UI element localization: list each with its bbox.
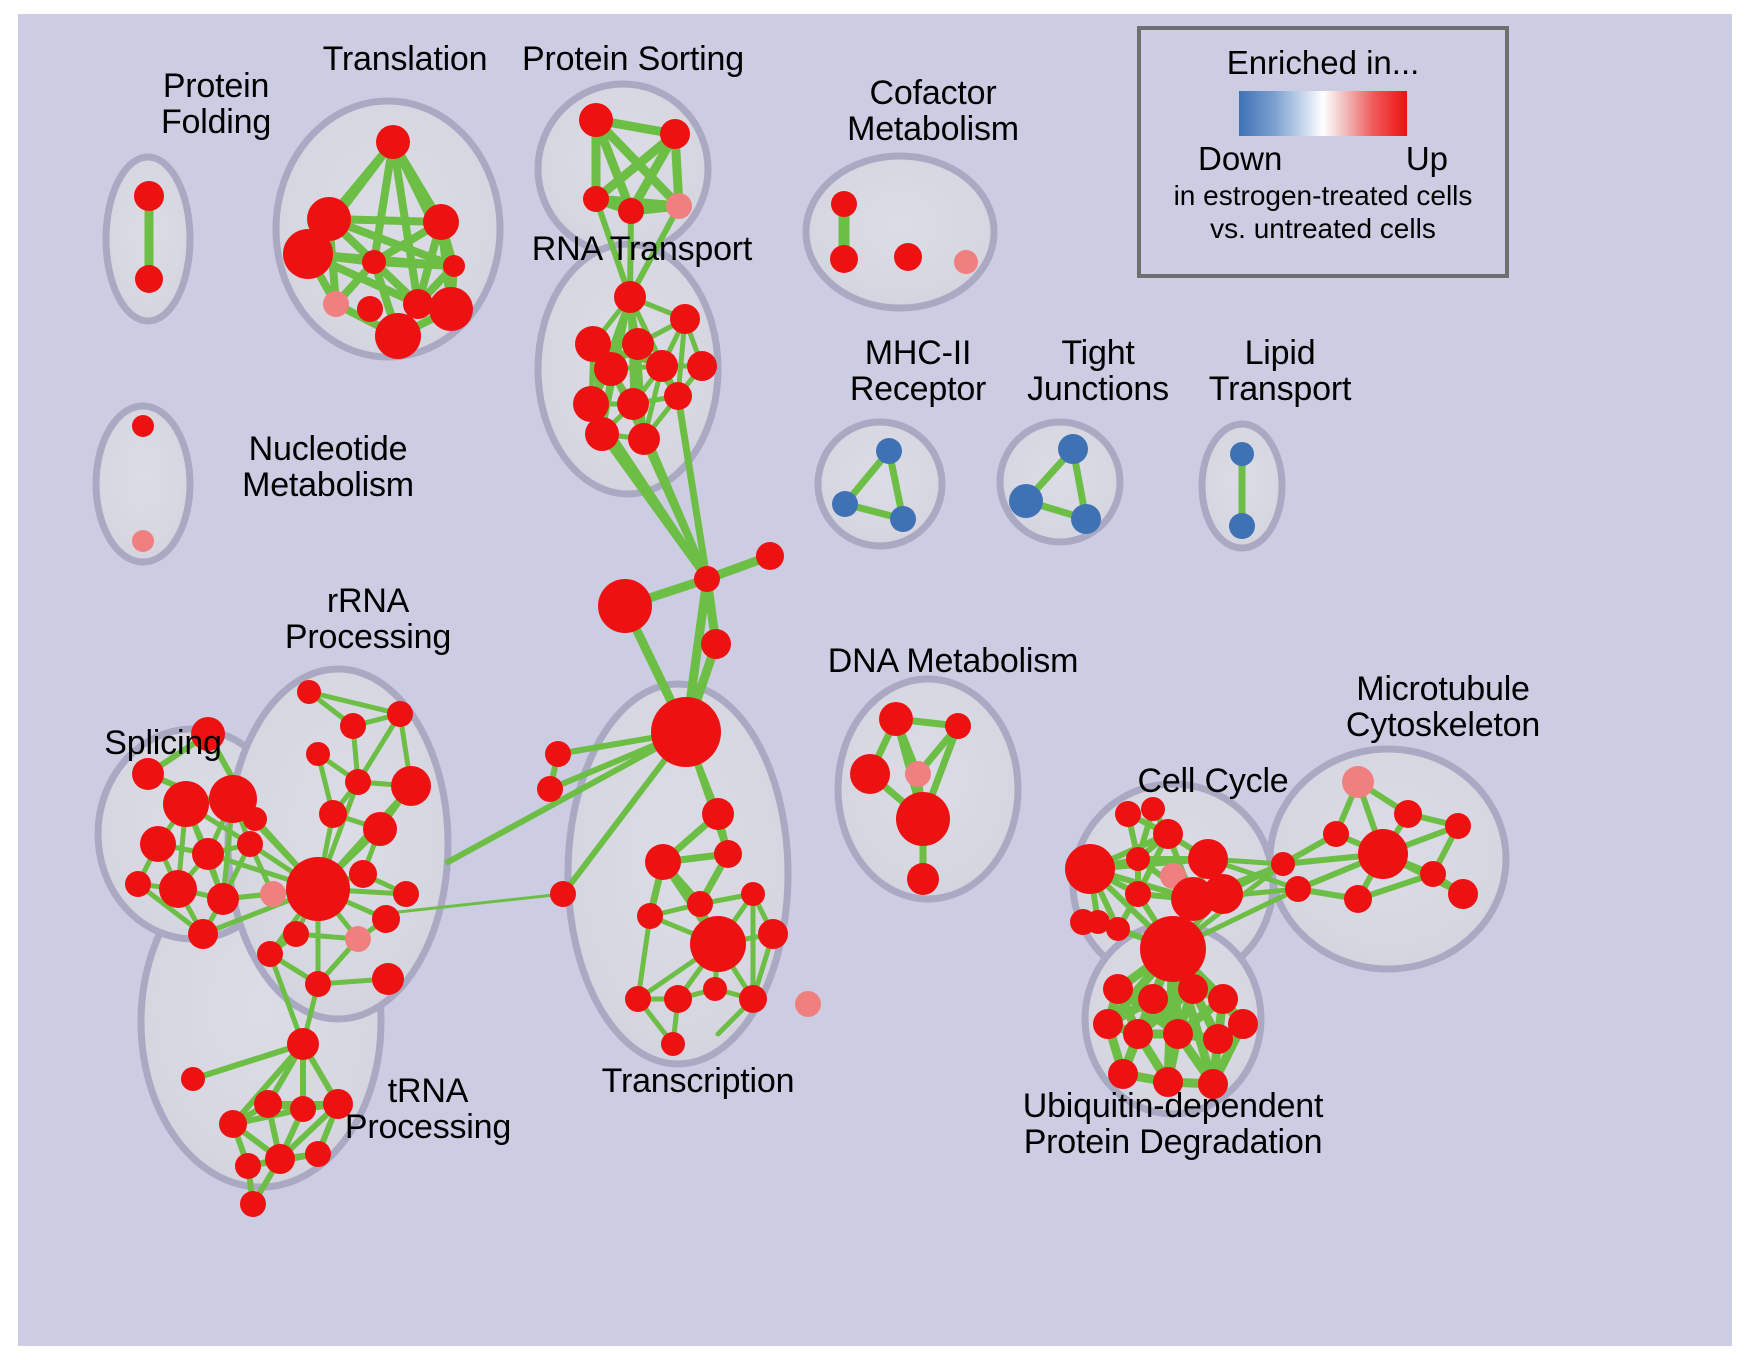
node <box>443 255 465 277</box>
node <box>651 697 721 767</box>
node <box>235 1153 261 1179</box>
cluster-label-microtubule-cytoskeleton: Microtubule Cytoskeleton <box>1298 672 1588 743</box>
hull-mhc-ii-receptor <box>818 422 942 546</box>
figure-root: Protein FoldingTranslationProtein Sortin… <box>0 0 1750 1360</box>
node <box>319 800 347 828</box>
node <box>1271 852 1295 876</box>
node <box>896 792 950 846</box>
node <box>703 977 727 1001</box>
node <box>618 198 644 224</box>
node <box>240 1191 266 1217</box>
node <box>1058 434 1088 464</box>
legend-caption-line2: vs. untreated cells <box>1210 213 1436 244</box>
node <box>594 352 628 386</box>
node <box>625 986 651 1012</box>
node <box>1140 916 1206 982</box>
hull-protein-sorting <box>538 84 708 254</box>
node <box>283 229 333 279</box>
node <box>132 530 154 552</box>
cluster-label-protein-folding: Protein Folding <box>106 69 326 140</box>
node <box>614 281 646 313</box>
node <box>1208 984 1238 1014</box>
node <box>687 891 713 917</box>
node <box>830 245 858 273</box>
node <box>323 291 349 317</box>
node <box>622 328 654 360</box>
node <box>694 566 720 592</box>
node <box>850 754 890 794</box>
node <box>132 415 154 437</box>
legend-up-label: Up <box>1406 140 1448 178</box>
node <box>907 863 939 895</box>
legend-down-label: Down <box>1198 140 1282 178</box>
node <box>372 963 404 995</box>
node <box>702 798 734 830</box>
node <box>617 388 649 420</box>
node <box>1448 879 1478 909</box>
legend-gradient-bar <box>1239 91 1407 136</box>
node <box>1203 1024 1233 1054</box>
node <box>585 417 619 451</box>
node <box>393 881 419 907</box>
node <box>758 919 788 949</box>
node <box>598 579 652 633</box>
node <box>209 775 257 823</box>
node <box>340 713 366 739</box>
node <box>387 701 413 727</box>
node <box>362 250 386 274</box>
node <box>192 838 224 870</box>
node <box>660 119 690 149</box>
node <box>260 881 286 907</box>
cluster-label-dna-metabolism: DNA Metabolism <box>808 644 1098 680</box>
cluster-label-rrna-processing: rRNA Processing <box>248 584 488 655</box>
node <box>376 125 410 159</box>
node <box>345 926 371 952</box>
node <box>1445 813 1471 839</box>
node <box>135 265 163 293</box>
cluster-label-trna-processing: tRNA Processing <box>308 1074 548 1145</box>
node <box>1125 881 1151 907</box>
node <box>1188 839 1228 879</box>
node <box>1420 861 1446 887</box>
node <box>879 702 913 736</box>
legend-caption-line1: in estrogen-treated cells <box>1174 180 1473 211</box>
cluster-label-transcription: Transcription <box>573 1064 823 1100</box>
node <box>583 186 609 212</box>
node <box>739 985 767 1013</box>
node <box>391 766 431 806</box>
node <box>1138 984 1168 1014</box>
node <box>795 991 821 1017</box>
node <box>163 781 209 827</box>
node <box>134 181 164 211</box>
node <box>357 296 383 322</box>
node <box>628 423 660 455</box>
cluster-label-cofactor-metabolism: Cofactor Metabolism <box>808 76 1058 147</box>
node <box>1394 800 1422 828</box>
node <box>363 812 397 846</box>
node <box>1229 513 1255 539</box>
node <box>345 769 371 795</box>
node <box>125 871 151 897</box>
node <box>306 742 330 766</box>
node <box>140 826 176 862</box>
node <box>297 680 321 704</box>
node <box>159 870 197 908</box>
node <box>372 905 400 933</box>
node <box>219 1110 247 1138</box>
node <box>670 304 700 334</box>
node <box>237 831 263 857</box>
node <box>894 243 922 271</box>
node <box>305 971 331 997</box>
node <box>1141 797 1165 821</box>
node <box>1108 1059 1138 1089</box>
cluster-label-lipid-transport: Lipid Transport <box>1170 336 1390 407</box>
node <box>1115 801 1141 827</box>
node <box>257 941 283 967</box>
node <box>545 741 571 767</box>
node <box>954 250 978 274</box>
node <box>690 916 746 972</box>
node <box>664 985 692 1013</box>
node <box>1285 876 1311 902</box>
node <box>637 903 663 929</box>
node <box>207 883 239 915</box>
node <box>1323 821 1349 847</box>
node <box>254 1090 282 1118</box>
cluster-label-protein-sorting: Protein Sorting <box>508 42 758 78</box>
hull-cofactor-metabolism <box>806 156 994 308</box>
legend-direction-row: Down Up <box>1198 140 1448 178</box>
node <box>832 491 858 517</box>
node <box>756 542 784 570</box>
node <box>1153 819 1183 849</box>
node <box>646 350 678 382</box>
node <box>876 438 902 464</box>
node <box>1009 484 1043 518</box>
node <box>573 386 609 422</box>
cluster-label-translation: Translation <box>290 42 520 78</box>
node <box>423 204 459 240</box>
node <box>403 289 433 319</box>
node <box>664 382 692 410</box>
node <box>286 857 350 921</box>
cluster-label-ubiquitin-protein-degradation: Ubiquitin-dependent Protein Degradation <box>988 1089 1358 1160</box>
node <box>945 713 971 739</box>
node <box>905 761 931 787</box>
node <box>1126 847 1150 871</box>
legend-box: Enriched in... Down Up in estrogen-treat… <box>1137 26 1509 278</box>
node <box>132 758 164 790</box>
node <box>429 287 473 331</box>
cluster-label-rna-transport: RNA Transport <box>512 232 772 268</box>
node <box>1065 844 1115 894</box>
cluster-label-cell-cycle: Cell Cycle <box>1103 764 1323 800</box>
node <box>550 881 576 907</box>
node <box>661 1032 685 1056</box>
node <box>1228 1009 1258 1039</box>
node <box>645 844 681 880</box>
node <box>1103 974 1133 1004</box>
node <box>1070 909 1096 935</box>
node <box>890 506 916 532</box>
node <box>1344 885 1372 913</box>
node <box>349 860 377 888</box>
node <box>1358 829 1408 879</box>
node <box>714 840 742 868</box>
node <box>287 1028 319 1060</box>
node <box>375 313 421 359</box>
cluster-label-nucleotide-metabolism: Nucleotide Metabolism <box>198 432 458 503</box>
node <box>1093 1009 1123 1039</box>
node <box>701 629 731 659</box>
network-canvas: Protein FoldingTranslationProtein Sortin… <box>18 14 1732 1346</box>
node <box>1071 504 1101 534</box>
node <box>666 193 692 219</box>
hull-tight-junctions <box>1000 422 1120 542</box>
node <box>1203 874 1243 914</box>
legend-title: Enriched in... <box>1227 44 1420 82</box>
node <box>188 919 218 949</box>
node <box>537 776 563 802</box>
cluster-label-splicing: Splicing <box>68 726 258 762</box>
node <box>1123 1019 1153 1049</box>
node <box>831 191 857 217</box>
node <box>579 103 613 137</box>
node <box>1230 442 1254 466</box>
node <box>1163 1019 1193 1049</box>
node <box>1342 766 1374 798</box>
node <box>1178 974 1208 1004</box>
node <box>283 921 309 947</box>
node <box>687 351 717 381</box>
node <box>181 1067 205 1091</box>
node <box>741 882 765 906</box>
node <box>265 1144 295 1174</box>
